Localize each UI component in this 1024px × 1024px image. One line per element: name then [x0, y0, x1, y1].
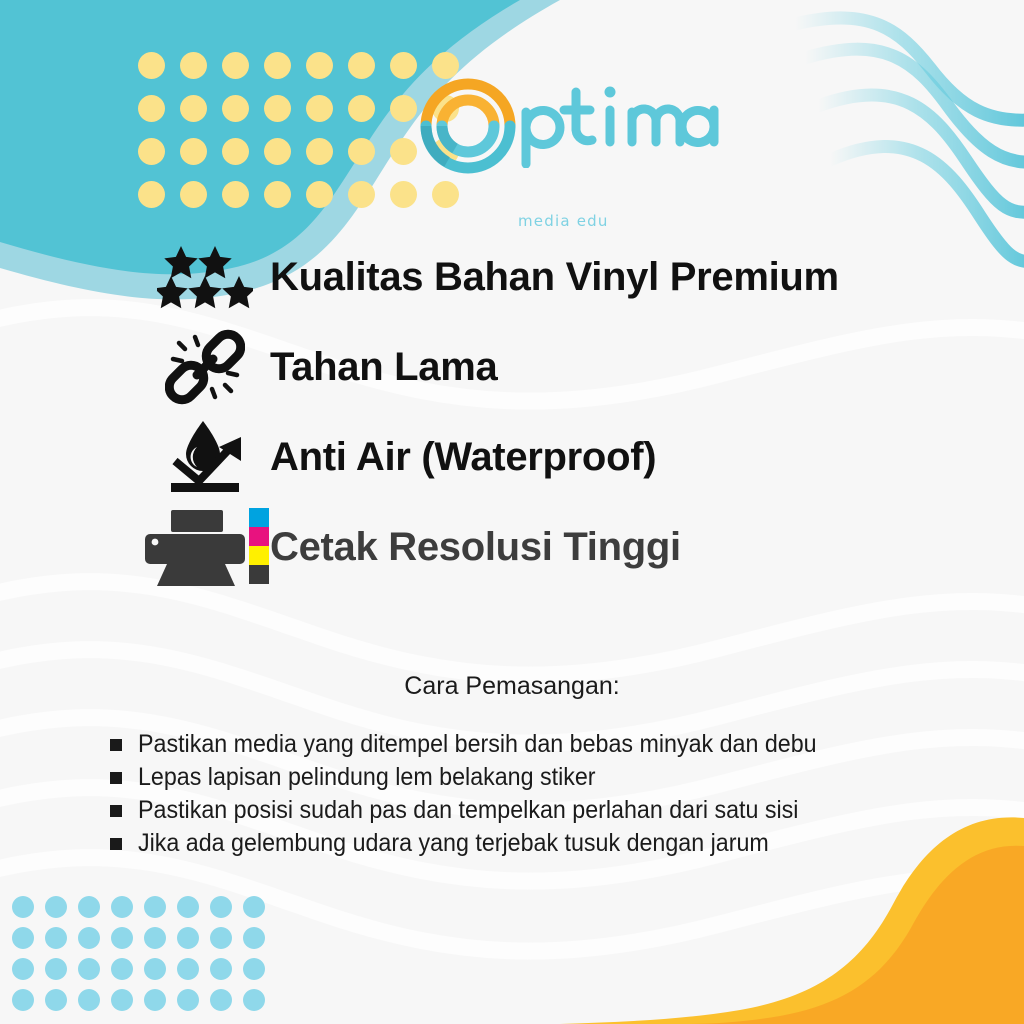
feature-item: Anti Air (Waterproof) [140, 412, 960, 502]
howto-title: Cara Pemasangan: [0, 672, 1024, 701]
brand-logo: media edu [418, 72, 718, 182]
blue-dot-grid [12, 896, 276, 1020]
feature-label: Kualitas Bahan Vinyl Premium [270, 255, 839, 300]
square-bullet-icon [110, 805, 122, 817]
square-bullet-icon [110, 772, 122, 784]
howto-section: Cara Pemasangan: Pastikan media yang dit… [0, 672, 1024, 701]
list-item: Pastikan media yang ditempel bersih dan … [110, 730, 940, 759]
feature-item: Tahan Lama [140, 322, 960, 412]
poster-canvas: media edu Kualitas Bahan Vinyl Premium [0, 0, 1024, 1024]
howto-step-text: Pastikan posisi sudah pas dan tempelkan … [138, 796, 798, 825]
howto-step-text: Pastikan media yang ditempel bersih dan … [138, 730, 817, 759]
feature-label: Tahan Lama [270, 345, 497, 390]
howto-step-text: Lepas lapisan pelindung lem belakang sti… [138, 763, 596, 792]
printer-cmyk-icon [140, 508, 270, 586]
feature-list: Kualitas Bahan Vinyl Premium [140, 232, 960, 592]
feature-item: Cetak Resolusi Tinggi [140, 502, 960, 592]
howto-step-list: Pastikan media yang ditempel bersih dan … [110, 730, 940, 862]
feature-label: Cetak Resolusi Tinggi [270, 525, 681, 570]
list-item: Jika ada gelembung udara yang terjebak t… [110, 829, 940, 858]
five-stars-icon [140, 244, 270, 310]
optima-wordmark [510, 72, 730, 168]
list-item: Lepas lapisan pelindung lem belakang sti… [110, 763, 940, 792]
waterproof-icon [140, 417, 270, 497]
feature-item: Kualitas Bahan Vinyl Premium [140, 232, 960, 322]
orange-blob-deep [668, 846, 1024, 1024]
square-bullet-icon [110, 739, 122, 751]
feature-label: Anti Air (Waterproof) [270, 435, 656, 480]
optima-circle-mark-icon [418, 76, 518, 176]
howto-step-text: Jika ada gelembung udara yang terjebak t… [138, 829, 769, 858]
brand-tagline: media edu [518, 212, 609, 230]
list-item: Pastikan posisi sudah pas dan tempelkan … [110, 796, 940, 825]
chain-link-icon [140, 327, 270, 407]
square-bullet-icon [110, 838, 122, 850]
